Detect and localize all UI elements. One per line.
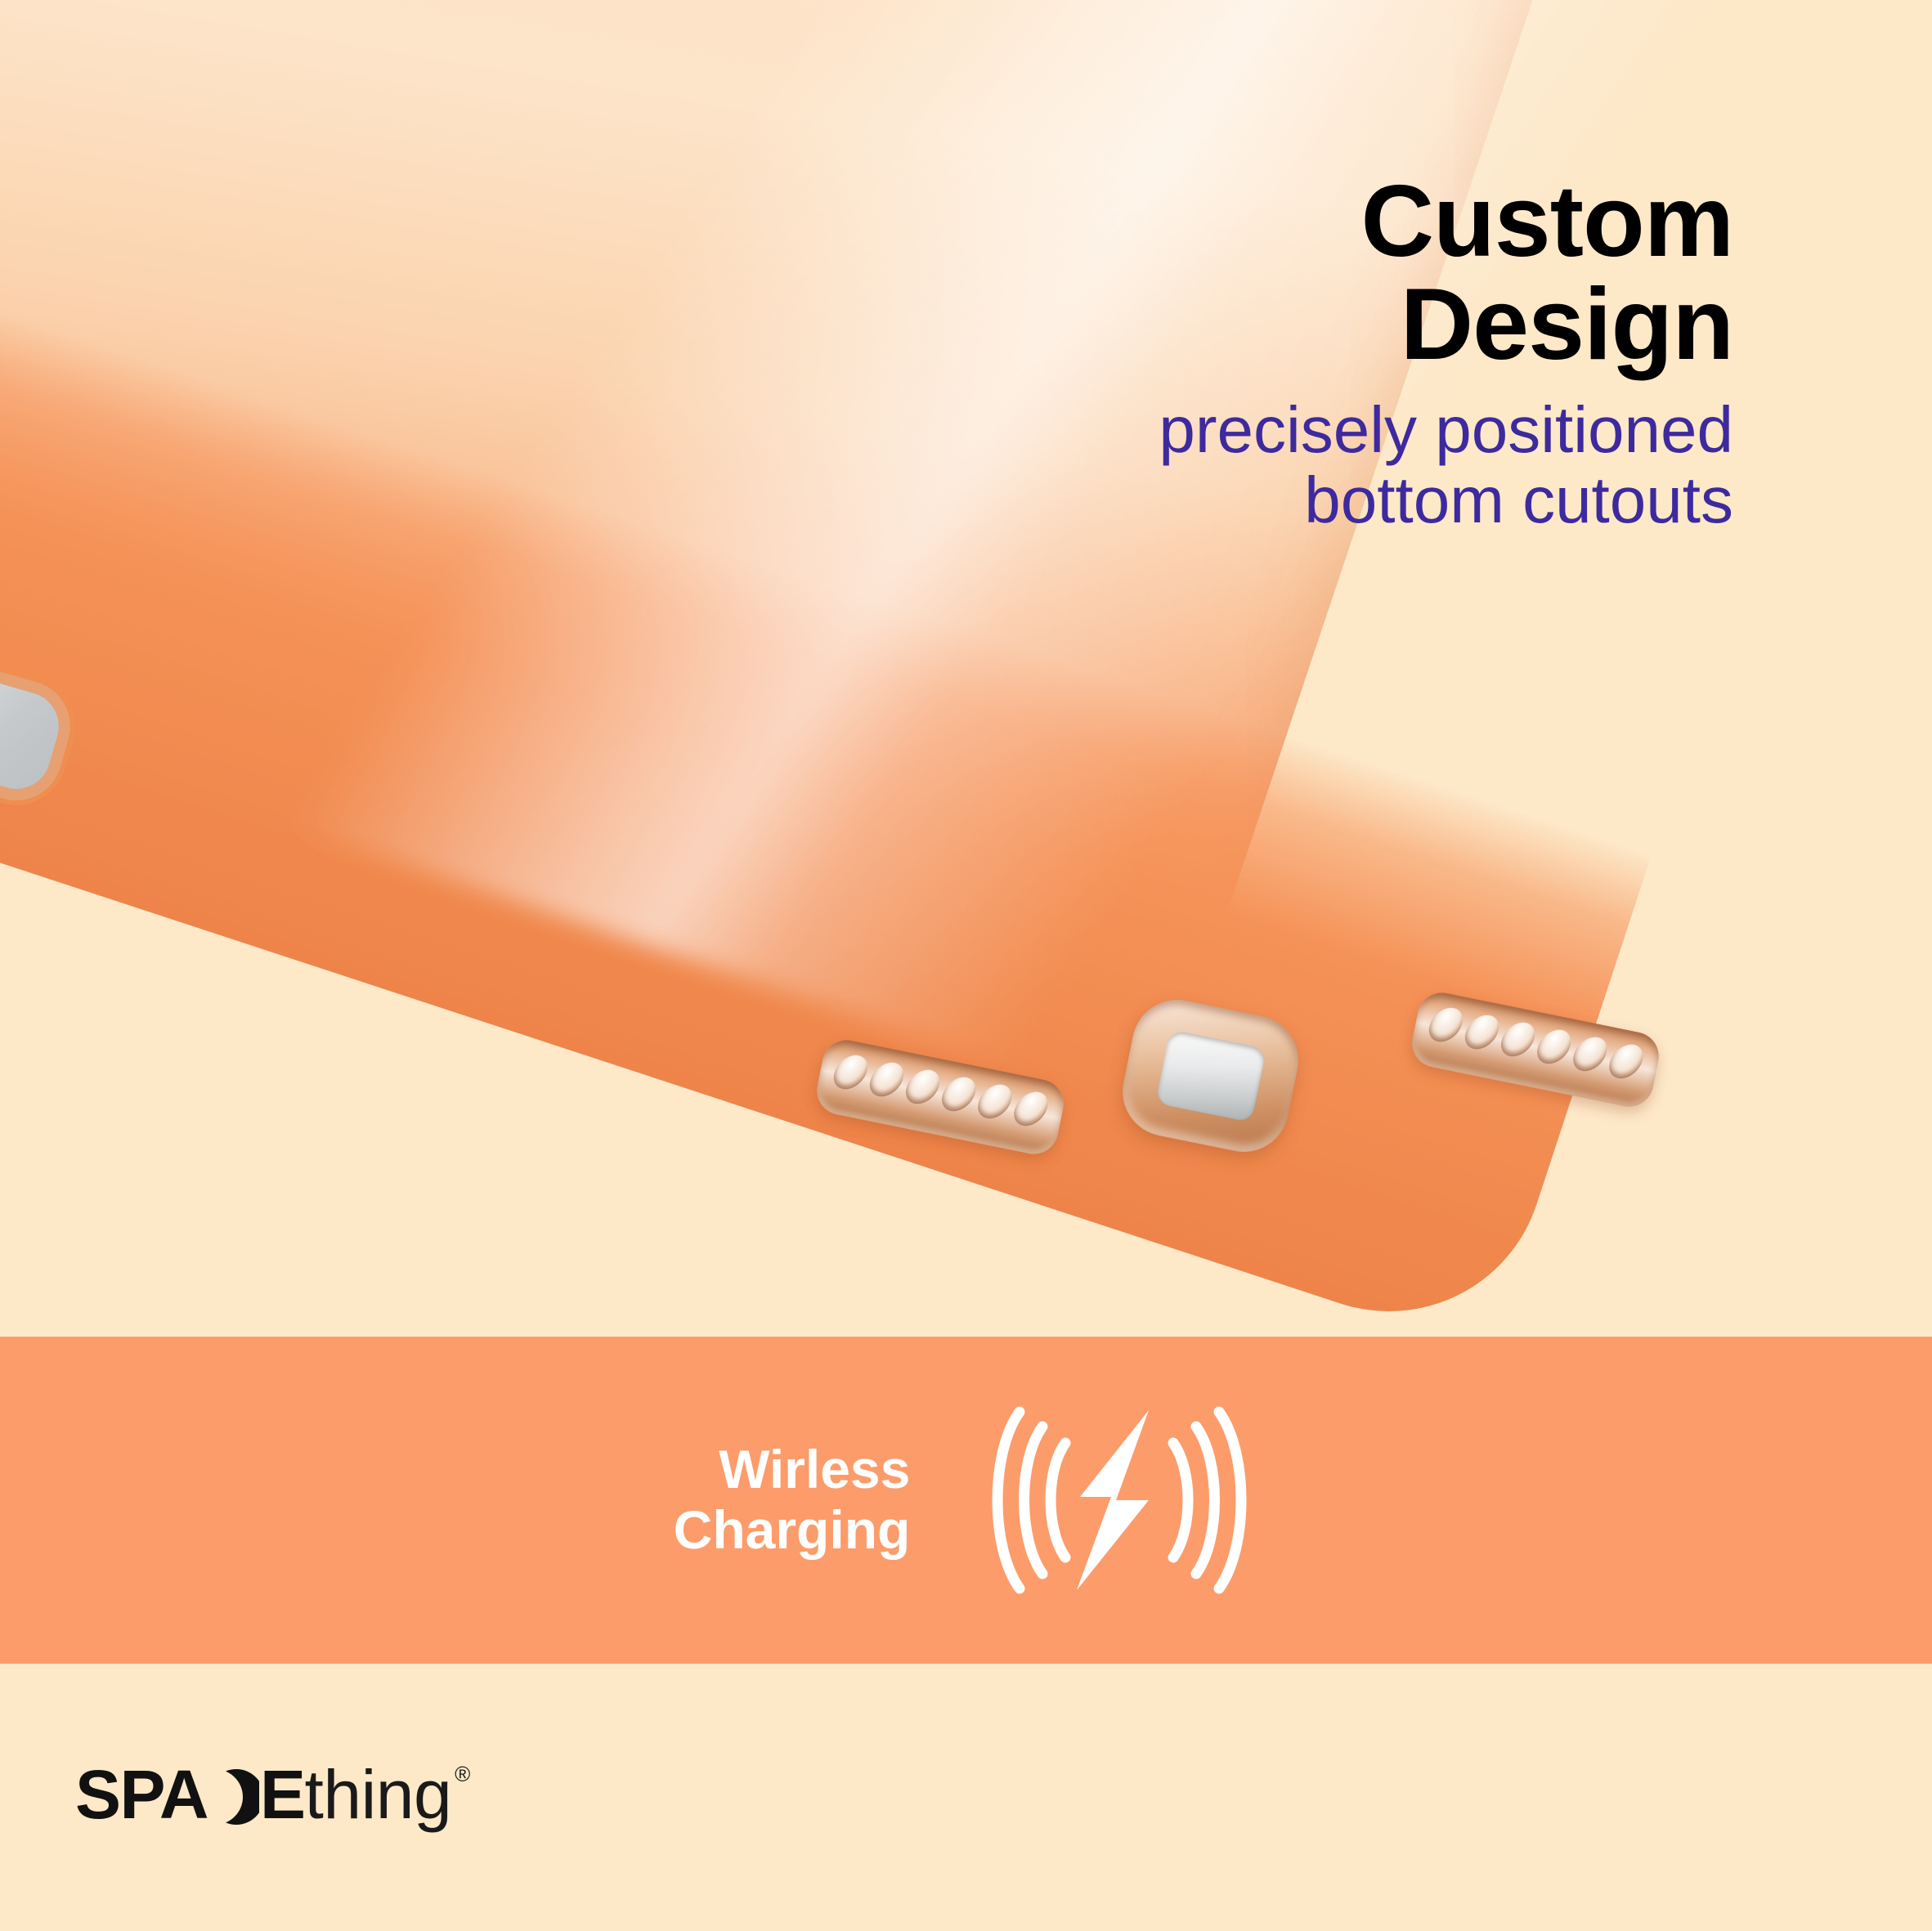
wireless-charging-label: Wirless Charging bbox=[674, 1440, 911, 1561]
logo-bold-text: SPA E bbox=[75, 1760, 305, 1829]
logo-space-head: SPA bbox=[75, 1760, 208, 1829]
registered-trademark-icon: ® bbox=[455, 1763, 470, 1785]
footer: SPA E thing ® bbox=[0, 1664, 1932, 1931]
product-poster: Custom Design precisely positioned botto… bbox=[0, 0, 1932, 1931]
page-title: Custom Design bbox=[834, 170, 1733, 377]
brand-logo[interactable]: SPA E thing ® bbox=[75, 1760, 470, 1839]
logo-crescent-c-icon bbox=[208, 1769, 259, 1825]
logo-light-text: thing bbox=[305, 1760, 452, 1829]
charging-port-inner bbox=[1155, 1029, 1266, 1122]
page-subtitle: precisely positioned bottom cutouts bbox=[834, 395, 1733, 536]
logo-space-tail: E bbox=[260, 1760, 305, 1829]
hero-copy-block: Custom Design precisely positioned botto… bbox=[834, 170, 1733, 536]
wireless-charging-band: Wirless Charging bbox=[0, 1337, 1932, 1664]
wireless-charging-bolt-icon bbox=[980, 1405, 1258, 1595]
hero-product-image: Custom Design precisely positioned botto… bbox=[0, 0, 1932, 1337]
grille-holes-right bbox=[1428, 1004, 1645, 1082]
